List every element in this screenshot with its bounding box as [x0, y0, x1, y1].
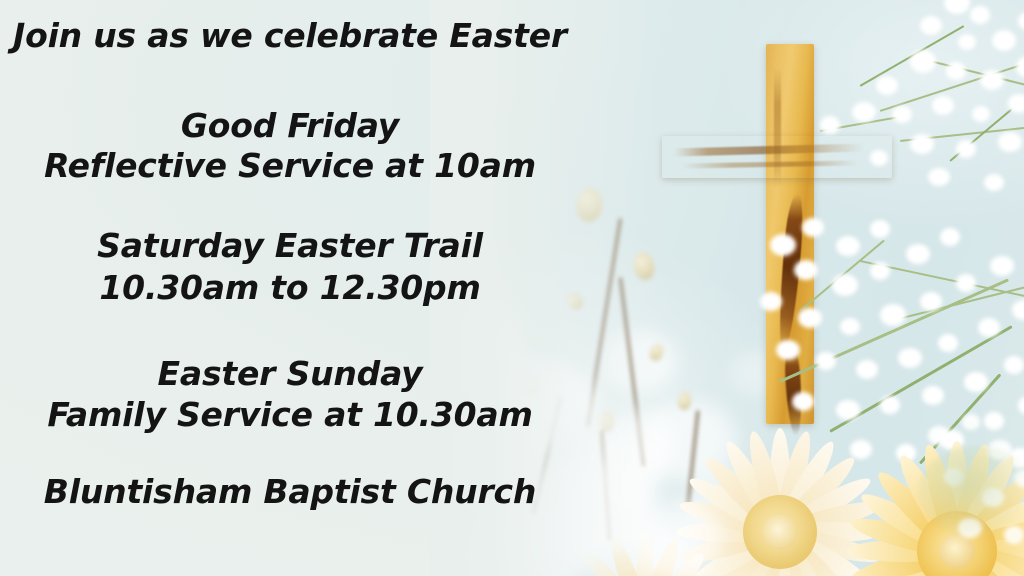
babys-breath-cluster-top-right — [760, 0, 1024, 220]
event-detail-good-friday: Reflective Service at 10am — [0, 146, 580, 185]
event-detail-saturday-easter-trail: 10.30am to 12.30pm — [0, 268, 580, 307]
event-title-easter-sunday: Easter Sunday — [0, 354, 580, 393]
poster-headline: Join us as we celebrate Easter — [0, 16, 580, 55]
poster-text-panel: Join us as we celebrate Easter Good Frid… — [0, 0, 580, 576]
event-title-saturday-easter-trail: Saturday Easter Trail — [0, 226, 580, 265]
event-detail-easter-sunday: Family Service at 10.30am — [0, 395, 580, 434]
event-title-good-friday: Good Friday — [0, 106, 580, 145]
filler-foliage — [918, 406, 1024, 556]
easter-service-poster: Join us as we celebrate Easter Good Frid… — [0, 0, 1024, 576]
organisation-name: Bluntisham Baptist Church — [0, 472, 580, 511]
